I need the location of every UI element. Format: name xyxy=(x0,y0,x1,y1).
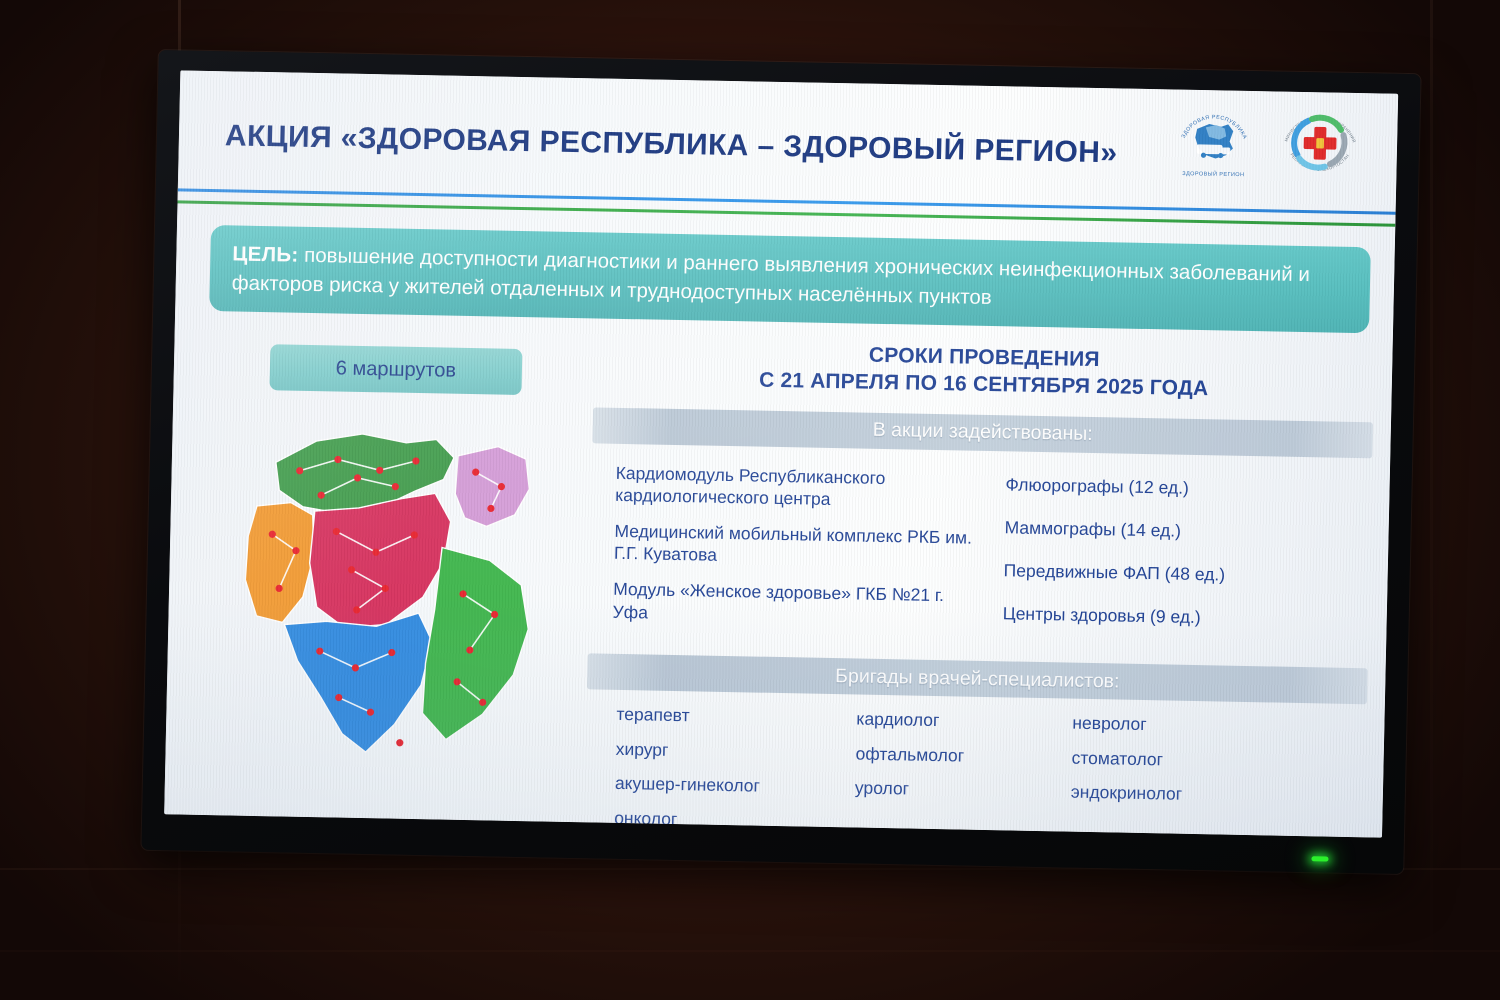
specialists-column-2: кардиолог офтальмолог уролог xyxy=(854,711,1073,838)
slide-header: АКЦИЯ «ЗДОРОВАЯ РЕСПУБЛИКА – ЗДОРОВЫЙ РЕ… xyxy=(178,70,1398,215)
goal-label: ЦЕЛЬ: xyxy=(232,242,299,266)
list-item: хирург xyxy=(615,741,855,763)
participants-left-column: Кардиомодуль Республиканского кардиологи… xyxy=(612,461,976,645)
list-item: Флюорографы (12 ед.) xyxy=(1005,473,1363,502)
list-item: Кардиомодуль Республиканского кардиологи… xyxy=(615,461,976,512)
svg-text:ЗДОРОВЫЙ РЕГИОН: ЗДОРОВЫЙ РЕГИОН xyxy=(1182,169,1244,178)
list-item: Центры здоровья (9 ед.) xyxy=(1003,603,1361,632)
list-item: офтальмолог xyxy=(855,745,1071,767)
zdorovyy-region-logo: ЗДОРОВАЯ РЕСПУБЛИКА xyxy=(1170,97,1258,187)
list-item: невролог xyxy=(1072,715,1312,737)
room-background: АКЦИЯ «ЗДОРОВАЯ РЕСПУБЛИКА – ЗДОРОВЫЙ РЕ… xyxy=(0,0,1500,1000)
slide-right-column: СРОКИ ПРОВЕДЕНИЯ С 21 АПРЕЛЯ ПО 16 СЕНТЯ… xyxy=(584,336,1375,837)
list-item: кардиолог xyxy=(856,711,1072,733)
participants-section-header: В акции задействованы: xyxy=(592,407,1373,458)
logo-group: ЗДОРОВАЯ РЕСПУБЛИКА xyxy=(1170,97,1364,189)
header-rule-green xyxy=(177,200,1395,226)
ministry-health-logo: МИНИСТЕРСТВО ЗДРАВООХРАНЕНИЯ РЕСПУБЛИКИ … xyxy=(1276,99,1364,189)
list-item: Медицинский мобильный комплекс РКБ им. Г… xyxy=(614,520,975,571)
list-item: эндокринолог xyxy=(1071,784,1311,806)
list-item: уролог xyxy=(855,780,1071,802)
presentation-slide: АКЦИЯ «ЗДОРОВАЯ РЕСПУБЛИКА – ЗДОРОВЫЙ РЕ… xyxy=(164,70,1398,837)
specialists-section-header: Бригады врачей-специалистов: xyxy=(587,654,1368,705)
wall-mounted-display: АКЦИЯ «ЗДОРОВАЯ РЕСПУБЛИКА – ЗДОРОВЫЙ РЕ… xyxy=(141,50,1420,874)
campaign-dates: СРОКИ ПРОВЕДЕНИЯ С 21 АПРЕЛЯ ПО 16 СЕНТЯ… xyxy=(594,336,1375,406)
list-item: Передвижные ФАП (48 ед.) xyxy=(1003,559,1361,588)
map-region-east-green xyxy=(422,547,530,741)
specialists-column-1: терапевт хирург акушер-гинеколог онколог xyxy=(614,706,857,837)
map-region-south-blue xyxy=(282,610,433,753)
goal-banner: ЦЕЛЬ: повышение доступности диагностики … xyxy=(209,225,1371,333)
page-title: АКЦИЯ «ЗДОРОВАЯ РЕСПУБЛИКА – ЗДОРОВЫЙ РЕ… xyxy=(225,119,1118,170)
specialists-column-3: невролог стоматолог эндокринолог xyxy=(1070,715,1313,837)
map-region-west-orange xyxy=(244,502,315,623)
wall-molding xyxy=(0,950,1500,952)
map-region-central-crimson xyxy=(308,491,451,630)
map-region-northeast-violet xyxy=(455,446,531,527)
power-led-indicator xyxy=(1311,856,1328,861)
list-item: Маммографы (14 ед.) xyxy=(1004,516,1362,545)
list-item: терапевт xyxy=(616,706,856,728)
header-rule-blue xyxy=(178,188,1396,214)
wall-panel-seam xyxy=(1430,0,1433,1000)
routes-count-badge: 6 маршрутов xyxy=(269,344,522,395)
bashkortostan-routes-map xyxy=(223,409,591,786)
display-screen: АКЦИЯ «ЗДОРОВАЯ РЕСПУБЛИКА – ЗДОРОВЫЙ РЕ… xyxy=(164,70,1398,837)
list-item: стоматолог xyxy=(1071,750,1311,772)
list-item: акушер-гинеколог xyxy=(615,775,855,797)
participants-right-column: Флюорографы (12 ед.) Маммографы (14 ед.)… xyxy=(1002,469,1364,653)
goal-text: повышение доступности диагностики и ранн… xyxy=(232,244,1311,309)
list-item: Модуль «Женское здоровье» ГКБ №21 г. Уфа xyxy=(612,578,973,629)
participants-lists: Кардиомодуль Республиканского кардиологи… xyxy=(588,461,1372,653)
specialists-lists: терапевт хирург акушер-гинеколог онколог… xyxy=(584,706,1367,838)
